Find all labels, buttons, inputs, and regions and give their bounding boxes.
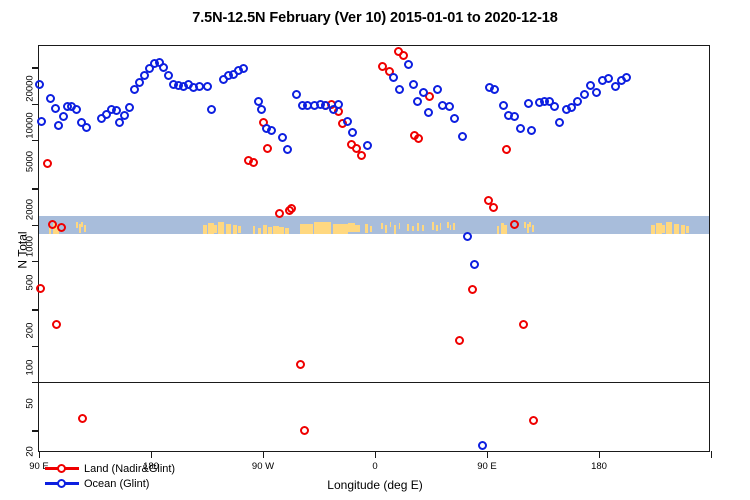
data-point-ocean bbox=[164, 71, 173, 80]
x-tick bbox=[151, 451, 152, 458]
landmass-shape bbox=[407, 224, 409, 231]
landmass-shape bbox=[258, 228, 261, 234]
data-point-ocean bbox=[82, 123, 91, 132]
landmass-shape bbox=[365, 224, 368, 233]
x-tick bbox=[263, 451, 264, 458]
x-tick-label: 180 bbox=[591, 461, 607, 472]
data-point-ocean bbox=[72, 105, 81, 114]
data-point-ocean bbox=[555, 118, 564, 127]
data-point-land bbox=[263, 144, 272, 153]
landmass-shape bbox=[674, 224, 679, 234]
data-point-land bbox=[36, 284, 45, 293]
data-point-ocean bbox=[239, 64, 248, 73]
landmass-shape bbox=[370, 226, 372, 232]
data-point-ocean bbox=[59, 112, 68, 121]
data-point-ocean bbox=[424, 108, 433, 117]
landmass-shape bbox=[84, 225, 86, 232]
data-point-land bbox=[468, 285, 477, 294]
plot-area: 20501002005001000200050001000020000 90 E… bbox=[38, 45, 710, 452]
data-point-ocean bbox=[343, 117, 352, 126]
landmass-shape bbox=[686, 226, 688, 233]
data-point-ocean bbox=[409, 80, 418, 89]
landmass-shape bbox=[214, 225, 217, 233]
landmass-shape bbox=[529, 222, 530, 227]
landmass-shape bbox=[81, 222, 82, 227]
data-point-ocean bbox=[46, 94, 55, 103]
data-point-ocean bbox=[516, 124, 525, 133]
data-point-ocean bbox=[470, 260, 479, 269]
y-tick-label: 2000 bbox=[25, 188, 36, 232]
data-point-land bbox=[502, 145, 511, 154]
landmass-shape bbox=[394, 225, 396, 234]
data-point-ocean bbox=[321, 101, 330, 110]
landmass-shape bbox=[450, 225, 451, 230]
ocean-background bbox=[39, 216, 709, 234]
world-map-band bbox=[39, 216, 709, 234]
data-point-ocean bbox=[527, 126, 536, 135]
landmass-shape bbox=[268, 227, 272, 234]
data-point-ocean bbox=[419, 88, 428, 97]
landmass-shape bbox=[355, 225, 360, 232]
landmass-shape bbox=[76, 222, 77, 228]
chart-canvas: 7.5N-12.5N February (Ver 10) 2015-01-01 … bbox=[0, 0, 750, 500]
x-tick bbox=[599, 451, 600, 458]
data-point-ocean bbox=[550, 102, 559, 111]
landmass-shape bbox=[226, 224, 231, 234]
landmass-shape bbox=[524, 222, 525, 228]
data-point-ocean bbox=[267, 126, 276, 135]
legend-marker-icon bbox=[45, 463, 79, 474]
data-point-ocean bbox=[458, 132, 467, 141]
data-point-ocean bbox=[580, 90, 589, 99]
data-point-ocean bbox=[622, 73, 631, 82]
data-point-ocean bbox=[490, 85, 499, 94]
landmass-shape bbox=[314, 222, 331, 234]
data-point-ocean bbox=[278, 133, 287, 142]
landmass-shape bbox=[233, 225, 237, 234]
landmass-shape bbox=[532, 225, 534, 232]
data-point-ocean bbox=[478, 441, 487, 450]
landmass-shape bbox=[436, 225, 438, 231]
landmass-shape bbox=[447, 222, 448, 228]
data-point-land bbox=[249, 158, 258, 167]
data-point-ocean bbox=[433, 85, 442, 94]
landmass-shape bbox=[300, 224, 312, 234]
data-point-land bbox=[57, 223, 66, 232]
data-point-land bbox=[78, 414, 87, 423]
data-point-ocean bbox=[207, 105, 216, 114]
x-tick bbox=[375, 451, 376, 458]
data-point-ocean bbox=[395, 85, 404, 94]
data-point-land bbox=[489, 203, 498, 212]
landmass-shape bbox=[453, 223, 455, 230]
data-point-land bbox=[296, 360, 305, 369]
data-point-ocean bbox=[524, 99, 533, 108]
landmass-shape bbox=[432, 222, 434, 230]
legend-entry[interactable]: Ocean (Glint) bbox=[45, 476, 175, 491]
data-point-land bbox=[455, 336, 464, 345]
landmass-shape bbox=[333, 224, 348, 234]
data-point-land bbox=[52, 320, 61, 329]
y-tick-label: 20000 bbox=[25, 67, 36, 111]
landmass-shape bbox=[440, 223, 441, 230]
data-point-land bbox=[43, 159, 52, 168]
data-point-land bbox=[399, 51, 408, 60]
data-point-ocean bbox=[120, 111, 129, 120]
data-point-ocean bbox=[604, 74, 613, 83]
data-point-ocean bbox=[592, 88, 601, 97]
data-point-ocean bbox=[37, 117, 46, 126]
data-point-ocean bbox=[404, 60, 413, 69]
landmass-shape bbox=[412, 226, 413, 231]
chart-legend: Land (Nadir&Glint)Ocean (Glint) bbox=[42, 458, 180, 494]
landmass-shape bbox=[504, 225, 507, 234]
legend-marker-icon bbox=[45, 478, 79, 489]
x-tick bbox=[39, 451, 40, 458]
legend-entry[interactable]: Land (Nadir&Glint) bbox=[45, 461, 175, 476]
reference-line bbox=[39, 382, 709, 383]
landmass-shape bbox=[399, 223, 400, 229]
landmass-shape bbox=[666, 222, 672, 234]
landmass-shape bbox=[253, 226, 255, 234]
data-point-ocean bbox=[499, 101, 508, 110]
data-point-ocean bbox=[463, 232, 472, 241]
data-point-land bbox=[519, 320, 528, 329]
data-point-ocean bbox=[203, 82, 212, 91]
data-point-ocean bbox=[112, 106, 121, 115]
data-point-ocean bbox=[54, 121, 63, 130]
landmass-shape bbox=[417, 223, 419, 231]
data-point-land bbox=[287, 204, 296, 213]
landmass-shape bbox=[263, 225, 267, 234]
x-tick bbox=[711, 451, 712, 458]
landmass-shape bbox=[422, 225, 423, 231]
data-point-ocean bbox=[51, 104, 60, 113]
x-tick-label: 90 E bbox=[477, 461, 497, 472]
data-point-ocean bbox=[257, 105, 266, 114]
landmass-shape bbox=[381, 223, 382, 229]
data-point-ocean bbox=[35, 80, 44, 89]
landmass-shape bbox=[279, 227, 284, 234]
data-point-ocean bbox=[413, 97, 422, 106]
data-point-land bbox=[300, 426, 309, 435]
y-tick-label: 200 bbox=[25, 309, 36, 353]
data-point-ocean bbox=[450, 114, 459, 123]
landmass-shape bbox=[501, 223, 504, 234]
data-point-land bbox=[275, 209, 284, 218]
legend-label: Land (Nadir&Glint) bbox=[84, 463, 175, 475]
x-tick-label: 90 W bbox=[252, 461, 274, 472]
legend-label: Ocean (Glint) bbox=[84, 478, 149, 490]
landmass-shape bbox=[651, 225, 655, 234]
data-point-ocean bbox=[283, 145, 292, 154]
landmass-shape bbox=[385, 225, 387, 233]
landmass-shape bbox=[390, 222, 391, 227]
data-point-ocean bbox=[292, 90, 301, 99]
data-point-land bbox=[414, 134, 423, 143]
landmass-shape bbox=[681, 225, 685, 234]
data-point-land bbox=[529, 416, 538, 425]
landmass-shape bbox=[348, 223, 355, 232]
x-tick bbox=[487, 451, 488, 458]
landmass-shape bbox=[285, 228, 289, 234]
landmass-shape bbox=[203, 225, 207, 234]
data-point-ocean bbox=[125, 103, 134, 112]
data-point-ocean bbox=[510, 112, 519, 121]
landmass-shape bbox=[208, 223, 214, 234]
landmass-shape bbox=[497, 226, 499, 234]
data-point-ocean bbox=[363, 141, 372, 150]
landmass-shape bbox=[218, 222, 224, 234]
landmass-shape bbox=[662, 225, 665, 233]
landmass-shape bbox=[238, 226, 240, 233]
chart-title: 7.5N-12.5N February (Ver 10) 2015-01-01 … bbox=[0, 10, 750, 26]
data-point-ocean bbox=[445, 102, 454, 111]
data-point-ocean bbox=[348, 128, 357, 137]
landmass-shape bbox=[656, 223, 662, 234]
data-point-ocean bbox=[389, 73, 398, 82]
data-point-land bbox=[357, 151, 366, 160]
x-tick-label: 0 bbox=[372, 461, 377, 472]
